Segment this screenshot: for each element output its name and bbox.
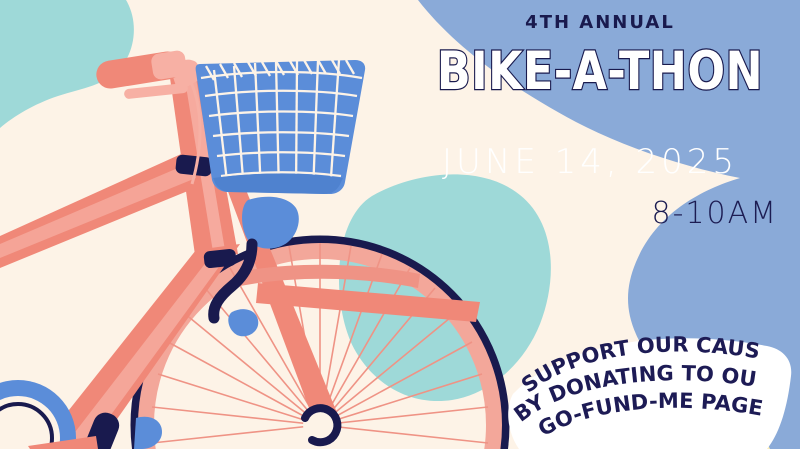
hub <box>303 408 337 442</box>
bicycle-illustration <box>0 0 800 449</box>
frame-top-tube-highlight <box>0 162 196 258</box>
chain-guard <box>134 417 162 449</box>
seat-spring <box>228 309 258 336</box>
front-basket <box>196 60 366 194</box>
seat-clamp <box>203 248 237 268</box>
basket-base <box>213 174 343 195</box>
bike-a-thon-poster: 4TH ANNUAL BIKE-A-THON JUNE 14, 2025 8-1… <box>0 0 800 449</box>
